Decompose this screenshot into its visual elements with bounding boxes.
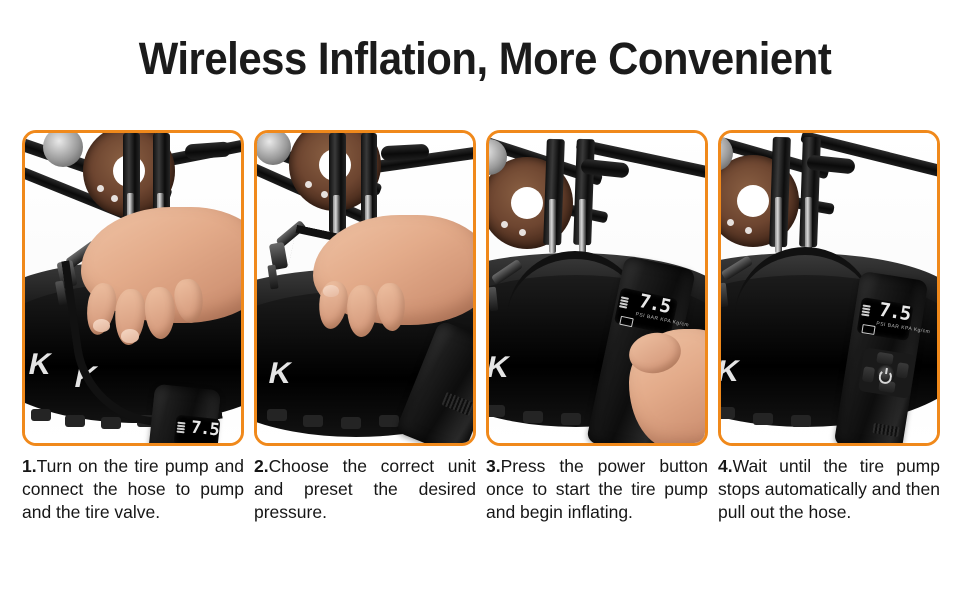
photo-press-power-button: K 7.5 PSI BAR KPA Kg/cm — [489, 133, 705, 443]
pump-display-unit-indicators — [861, 304, 871, 316]
rotor-vent-hole — [321, 191, 328, 198]
fingernail — [93, 319, 110, 332]
axle-end-cap — [185, 141, 232, 159]
axle-end-cap — [381, 144, 430, 161]
product-infographic: Wireless Inflation, More Convenient — [0, 0, 970, 600]
step-text-1: Turn on the tire pump and connect the ho… — [22, 456, 244, 522]
brake-rotor-center — [511, 187, 543, 219]
pump-key-right[interactable] — [896, 362, 909, 379]
page-title: Wireless Inflation, More Convenient — [34, 33, 936, 85]
tire-tread-knob — [523, 411, 543, 423]
step-number-2: 2. — [254, 456, 269, 476]
fork-lowers-shine — [549, 199, 556, 253]
fork-lowers-shine — [579, 199, 586, 253]
rotor-vent-hole — [97, 185, 104, 192]
tire-tread-knob — [65, 415, 85, 427]
rotor-vent-hole — [727, 219, 734, 226]
tire-tread-knob — [561, 413, 581, 425]
fingernail — [121, 329, 139, 343]
rotor-vent-hole — [745, 227, 752, 234]
tire-tread-knob — [303, 415, 323, 427]
tire-tread-knob — [489, 405, 505, 417]
tire-tread-knob — [341, 417, 361, 429]
rotor-vent-hole — [501, 221, 508, 228]
rotor-vent-hole — [519, 229, 526, 236]
step-number-4: 4. — [718, 456, 733, 476]
rotor-vent-hole — [111, 195, 118, 202]
fork-lowers-shine — [805, 197, 812, 253]
tire-tread-knob — [791, 415, 811, 427]
step-caption-row: 1.Turn on the tire pump and connect the … — [22, 455, 962, 585]
step-caption-2: 2.Choose the correct unit and preset the… — [254, 455, 476, 585]
step-image-gallery: K K — [22, 130, 950, 446]
step-image-4: K 7.5 PSI BAR KPA Kg/cm — [718, 130, 940, 446]
tire-tread-knob — [101, 417, 121, 429]
step-caption-4: 4.Wait until the tire pump stops automat… — [718, 455, 940, 585]
step-text-2: Choose the correct unit and preset the d… — [254, 456, 476, 522]
rotor-vent-hole — [305, 181, 312, 188]
tire-tread-knob — [721, 407, 735, 419]
fingernail — [323, 285, 339, 297]
step-number-1: 1. — [22, 456, 37, 476]
step-caption-3: 3.Press the power button once to start t… — [486, 455, 708, 585]
tire-tread-knob — [31, 409, 51, 421]
tire-tread-knob — [267, 409, 287, 421]
photo-hand-connect-hose: K K — [25, 133, 241, 443]
brake-rotor-center — [737, 185, 769, 217]
tire-tread-knob — [753, 413, 773, 425]
pump-display-value: 7.5 — [190, 418, 220, 441]
step-caption-1: 1.Turn on the tire pump and connect the … — [22, 455, 244, 585]
tire-tread-knob — [379, 415, 399, 427]
step-image-2: K — [254, 130, 476, 446]
step-image-1: K K — [22, 130, 244, 446]
fork-lowers-shine — [775, 197, 782, 253]
photo-hand-hold-pump: K — [257, 133, 473, 443]
pump-display-unit-indicators — [176, 422, 185, 434]
photo-pump-auto-stop: K 7.5 PSI BAR KPA Kg/cm — [721, 133, 937, 443]
step-text-4: Wait until the tire pump stops automatic… — [718, 456, 940, 522]
step-image-3: K 7.5 PSI BAR KPA Kg/cm — [486, 130, 708, 446]
pump-key-up[interactable] — [876, 352, 894, 365]
step-text-3: Press the power button once to start the… — [486, 456, 708, 522]
pump-key-left[interactable] — [862, 366, 875, 383]
step-number-3: 3. — [486, 456, 501, 476]
pump-battery-icon — [861, 324, 875, 335]
